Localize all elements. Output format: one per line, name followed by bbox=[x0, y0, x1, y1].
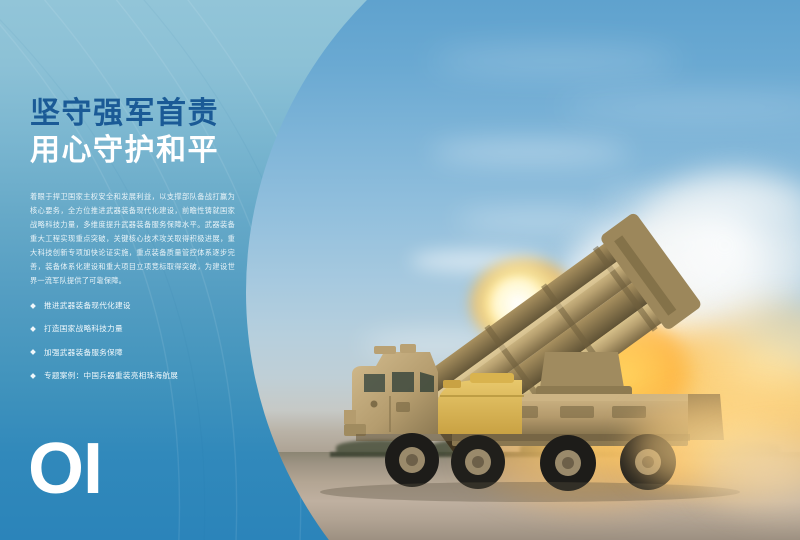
list-item: 专题案例：中国兵器重装亮相珠海航展 bbox=[30, 370, 245, 381]
list-item: 推进武器装备现代化建设 bbox=[30, 300, 245, 311]
page-title: 坚守强军首责 用心守护和平 bbox=[30, 96, 260, 169]
list-item: 打造国家战略科技力量 bbox=[30, 323, 245, 334]
headline-line-2: 用心守护和平 bbox=[30, 133, 260, 170]
body-paragraph: 着眼于捍卫国家主权安全和发展利益，以支撑部队备战打赢为核心要务，全方位推进武器装… bbox=[30, 190, 235, 288]
headline-line-1: 坚守强军首责 bbox=[30, 96, 260, 133]
section-number: OI bbox=[28, 433, 102, 505]
list-item: 加强武器装备服务保障 bbox=[30, 347, 245, 358]
poster-page: 坚守强军首责 用心守护和平 着眼于捍卫国家主权安全和发展利益，以支撑部队备战打赢… bbox=[0, 0, 800, 540]
highlight-list: 推进武器装备现代化建设 打造国家战略科技力量 加强武器装备服务保障 专题案例：中… bbox=[30, 300, 245, 394]
